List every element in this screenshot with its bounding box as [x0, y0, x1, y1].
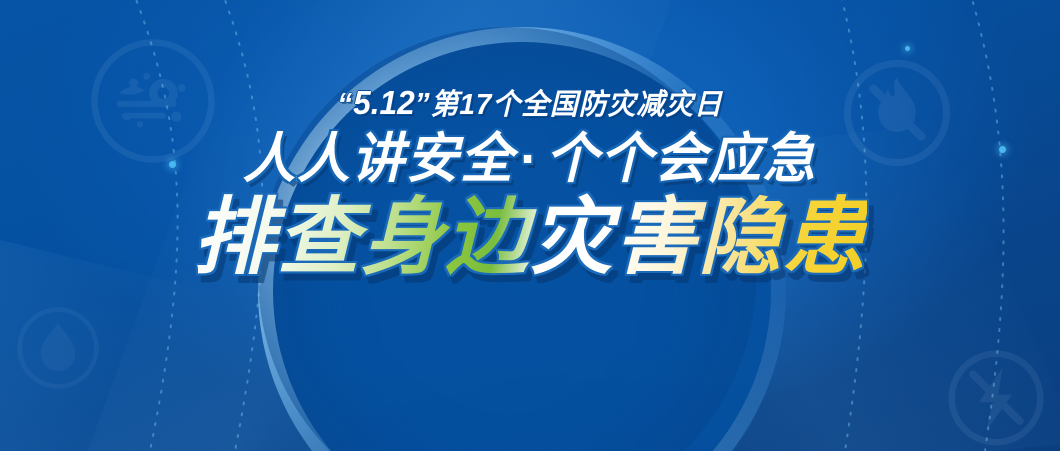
headline-line-3: 排查身边灾害隐患 [11, 193, 1050, 281]
quote-close: ” [415, 86, 431, 121]
spark-dot-top-right [905, 46, 910, 51]
headline-line-1: “5.12”第17个全国防灾减灾日 [21, 86, 1039, 120]
disaster-prevention-banner: “5.12”第17个全国防灾减灾日 人人讲安全·个个会应急 排查身边灾害隐患 [0, 0, 1060, 451]
headline-line-2-part-b: 个个会应急 [546, 129, 818, 189]
headline-line-2-part-a: 人人讲安全 [243, 129, 515, 189]
headline-separator: · [514, 129, 545, 189]
water-drop-icon [10, 300, 106, 396]
no-lightning-icon [942, 344, 1050, 451]
headline-line-1-text: 第17个全国防灾减灾日 [431, 89, 723, 121]
headline-line-3-text: 排查身边灾害隐患 [193, 190, 867, 284]
headline-line-2: 人人讲安全·个个会应急 [16, 132, 1044, 187]
date-number: 5.12 [353, 84, 415, 121]
quote-open: “ [337, 86, 353, 121]
headline-block: “5.12”第17个全国防灾减灾日 人人讲安全·个个会应急 排查身边灾害隐患 [0, 86, 1060, 281]
